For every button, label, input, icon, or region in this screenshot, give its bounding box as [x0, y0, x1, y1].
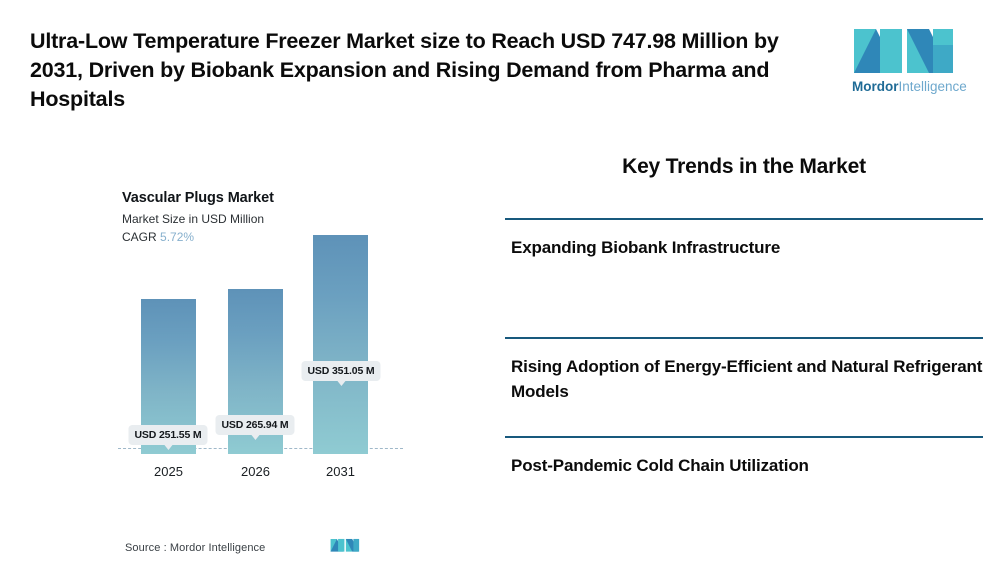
trend-item: Rising Adoption of Energy-Efficient and …	[505, 337, 983, 404]
chart-source: Source : Mordor Intelligence	[125, 542, 265, 554]
bar-2031	[313, 235, 368, 454]
key-trends-section: Key Trends in the Market Expanding Bioba…	[505, 155, 983, 216]
trend-divider	[505, 337, 983, 339]
trend-divider	[505, 436, 983, 438]
trend-item: Expanding Biobank Infrastructure	[505, 218, 983, 260]
mordor-intelligence-mark-icon	[330, 536, 360, 554]
trend-divider	[505, 218, 983, 220]
trend-label: Post-Pandemic Cold Chain Utilization	[505, 453, 983, 478]
slide-canvas: Ultra-Low Temperature Freezer Market siz…	[0, 0, 1006, 577]
x-axis-tick-2025: 2025	[141, 464, 196, 479]
mordor-intelligence-logo-icon	[852, 25, 956, 75]
chart-cagr: CAGR 5.72%	[122, 230, 194, 244]
chart-panel: Vascular Plugs Market Market Size in USD…	[0, 150, 470, 570]
brand-name-bold: Mordor	[852, 79, 899, 94]
chart-title: Vascular Plugs Market	[122, 190, 274, 206]
key-trends-title: Key Trends in the Market	[505, 155, 983, 179]
bar-value-label-2026: USD 265.94 M	[215, 415, 294, 435]
trend-item: Post-Pandemic Cold Chain Utilization	[505, 436, 983, 478]
trend-label: Rising Adoption of Energy-Efficient and …	[505, 354, 983, 404]
chart-subtitle: Market Size in USD Million	[122, 212, 264, 226]
trend-label: Expanding Biobank Infrastructure	[505, 235, 983, 260]
x-axis-tick-2026: 2026	[228, 464, 283, 479]
cagr-value: 5.72%	[160, 230, 194, 244]
x-axis-tick-2031: 2031	[313, 464, 368, 479]
bar-value-label-2025: USD 251.55 M	[128, 425, 207, 445]
brand-name-light: Intelligence	[899, 79, 967, 94]
cagr-label: CAGR	[122, 230, 157, 244]
bar-value-label-2031: USD 351.05 M	[301, 361, 380, 381]
brand-wordmark: MordorIntelligence	[852, 79, 962, 95]
page-title: Ultra-Low Temperature Freezer Market siz…	[30, 27, 830, 114]
chart-plot-area: USD 251.55 M USD 265.94 M USD 351.05 M 2…	[110, 250, 410, 505]
brand-logo: MordorIntelligence	[852, 25, 962, 95]
